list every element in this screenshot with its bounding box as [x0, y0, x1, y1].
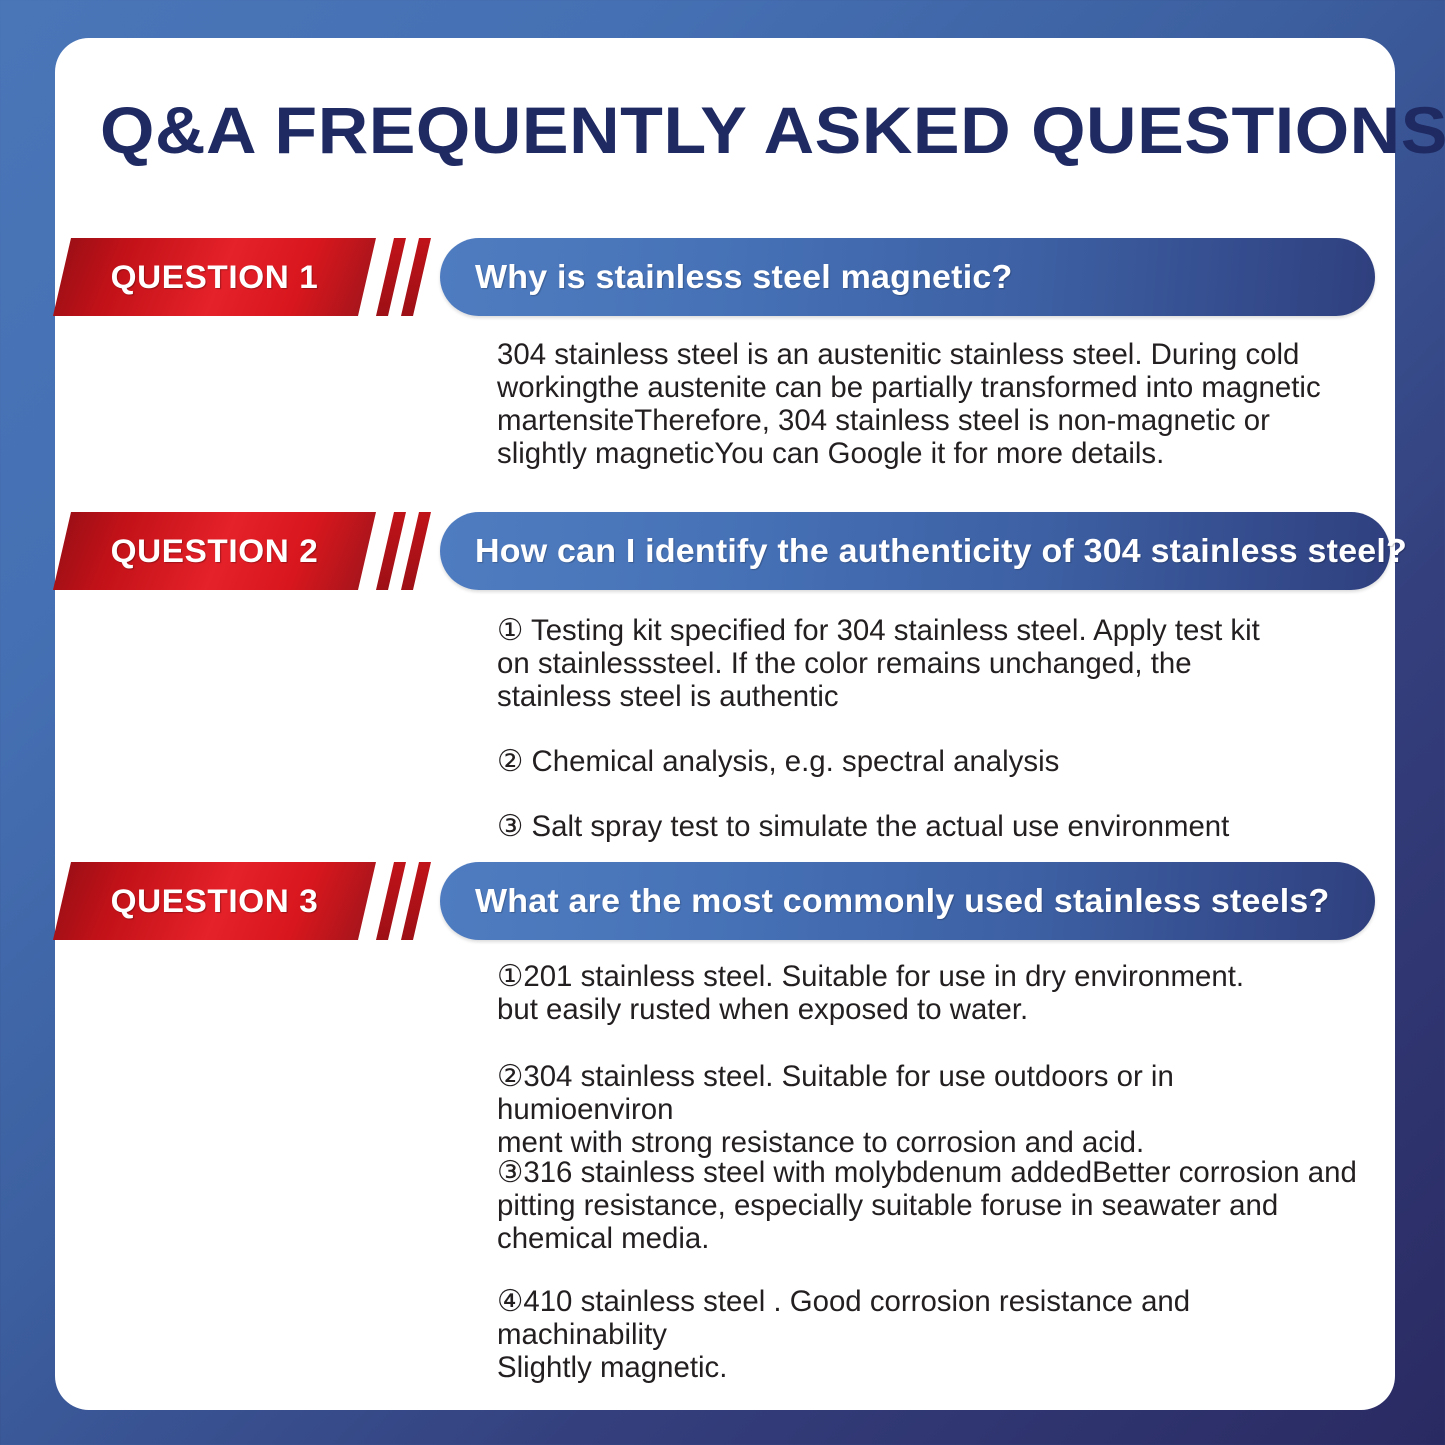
faq-infographic: Q&A FREQUENTLY ASKED QUESTIONS QUESTION …	[0, 0, 1445, 1445]
page-title: Q&A FREQUENTLY ASKED QUESTIONS	[100, 92, 1372, 168]
question-text-3: What are the most commonly used stainles…	[440, 882, 1358, 920]
question-header-3: QUESTION 3 What are the most commonly us…	[0, 862, 1445, 940]
question-badge-label-2: QUESTION 2	[56, 512, 373, 590]
answer-item-2-3: ③ Salt spray test to simulate the actual…	[497, 810, 1359, 843]
answer-item-3-4: ④410 stainless steel . Good corrosion re…	[497, 1285, 1350, 1384]
answer-item-3-2: ②304 stainless steel. Suitable for use o…	[497, 1060, 1340, 1159]
answer-item-2-2: ② Chemical analysis, e.g. spectral analy…	[497, 745, 1359, 778]
slash-icon-2a	[376, 512, 406, 590]
answer-item-3-1: ①201 stainless steel. Suitable for use i…	[497, 960, 1359, 1026]
answer-item-2-1: ① Testing kit specified for 304 stainles…	[497, 614, 1271, 713]
question-header-2: QUESTION 2 How can I identify the authen…	[0, 512, 1445, 590]
question-pill-2[interactable]: How can I identify the authenticity of 3…	[440, 512, 1390, 590]
slash-icon-1a	[376, 238, 406, 316]
question-text-1: Why is stainless steel magnetic?	[440, 258, 1041, 296]
question-text-2: How can I identify the authenticity of 3…	[440, 532, 1436, 570]
slash-icon-3a	[376, 862, 406, 940]
question-pill-1[interactable]: Why is stainless steel magnetic?	[440, 238, 1375, 316]
answer-text-1: 304 stainless steel is an austenitic sta…	[497, 338, 1328, 470]
question-badge-label-3: QUESTION 3	[56, 862, 373, 940]
question-pill-3[interactable]: What are the most commonly used stainles…	[440, 862, 1375, 940]
question-badge-label-1: QUESTION 1	[56, 238, 373, 316]
slash-icon-2b	[401, 512, 431, 590]
question-header-1: QUESTION 1 Why is stainless steel magnet…	[0, 238, 1445, 316]
slash-icon-1b	[401, 238, 431, 316]
answer-item-3-3: ③316 stainless steel with molybdenum add…	[497, 1156, 1369, 1255]
slash-icon-3b	[401, 862, 431, 940]
